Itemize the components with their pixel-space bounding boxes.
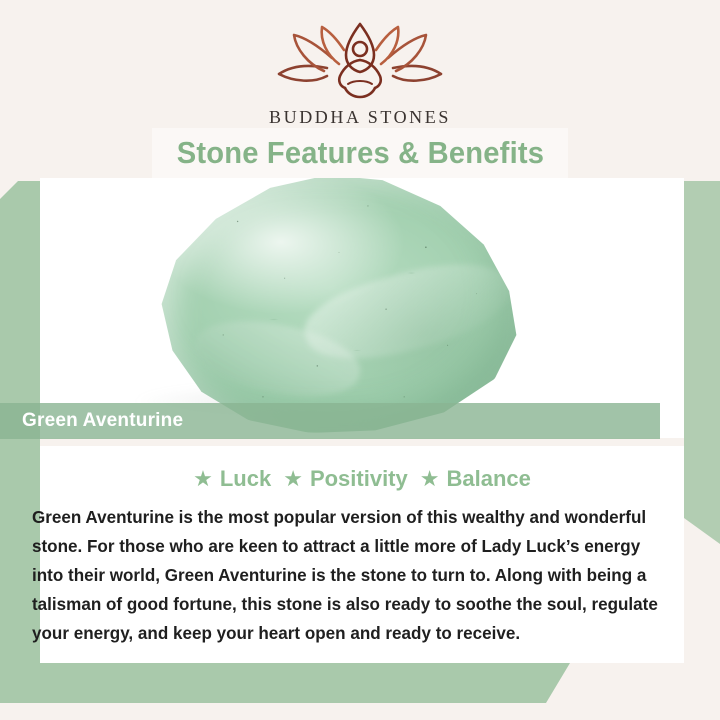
description-panel: ★ Luck ★ Positivity ★ Balance Green Aven… [40,446,684,663]
page-title-band: Stone Features & Benefits [152,128,568,178]
star-icon: ★ [193,468,213,490]
brand-name: BUDDHA STONES [269,107,451,128]
frame-accent-right [684,142,720,544]
benefit-item-luck: ★ Luck [193,466,271,492]
stone-description-text: Green Aventurine is the most popular ver… [32,503,672,648]
lotus-meditation-icon [272,22,448,105]
frame-accent-bottom [0,663,570,703]
header: BUDDHA STONES Stone Features & Benefits [0,0,720,181]
benefit-label-luck: Luck [220,466,271,492]
page-title: Stone Features & Benefits [176,135,543,171]
benefit-label-balance: Balance [446,466,530,492]
infographic-page: BUDDHA STONES Stone Features & Benefits … [0,0,720,720]
brand-logo: BUDDHA STONES [0,22,720,128]
star-icon: ★ [283,468,303,490]
benefit-keyword-list: ★ Luck ★ Positivity ★ Balance [40,466,684,492]
benefit-label-positivity: Positivity [310,466,408,492]
benefit-item-balance: ★ Balance [420,466,531,492]
stone-image [158,178,520,433]
stone-name-label: Green Aventurine [22,410,183,432]
stone-photo-panel [40,178,684,438]
stone-speckle-texture [158,178,520,433]
star-icon: ★ [420,468,440,490]
benefit-item-positivity: ★ Positivity [283,466,408,492]
stone-name-ribbon: Green Aventurine [0,403,660,439]
